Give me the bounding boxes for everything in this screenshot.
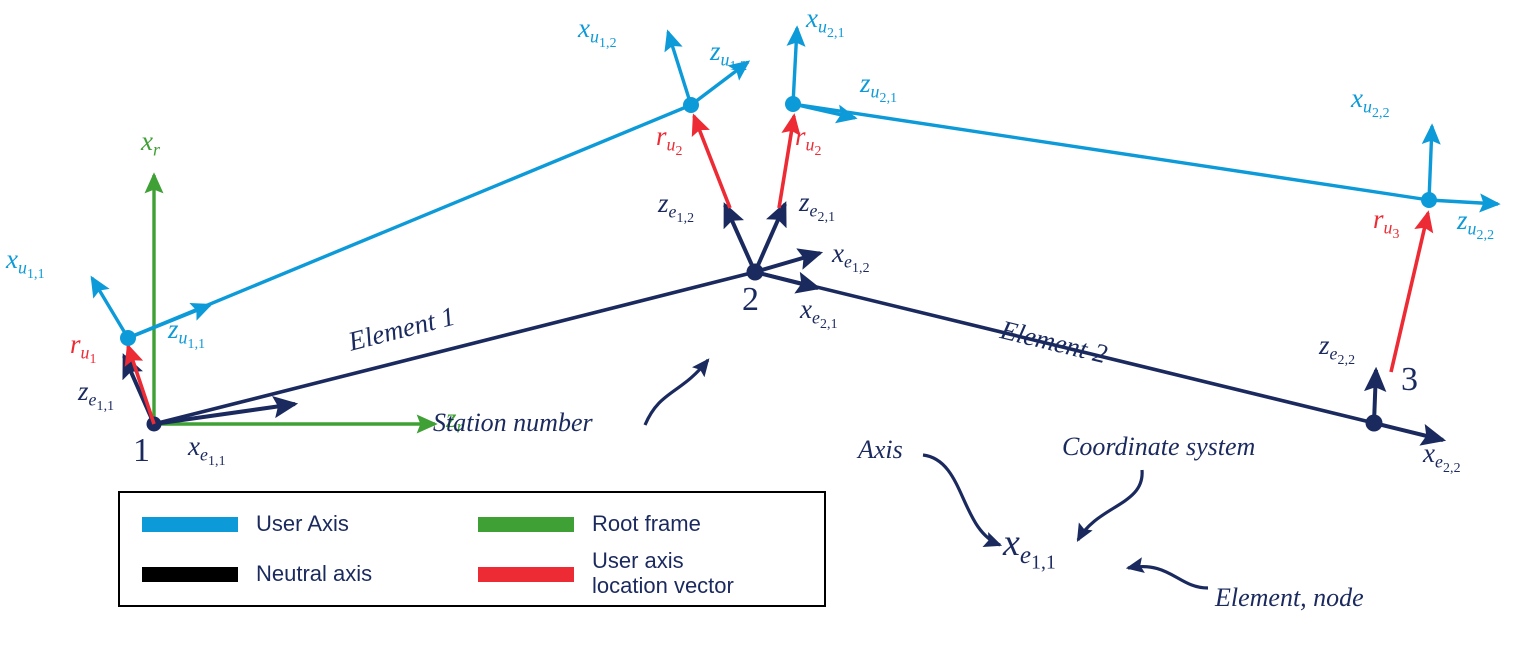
node-3-user-frame [1391,126,1498,372]
axis-callout: Axis [858,437,903,463]
z-e-1-2-label: ze1,2 [658,190,694,225]
x-u-2-1-label: xu2,1 [806,5,845,40]
x-e-2-2-label: xe2,2 [1423,440,1461,475]
z-u-2-2-arrow [1429,200,1498,204]
neutral-axis-beam [154,272,1374,424]
r-u-2-left-label: ru2 [656,123,683,158]
legend-label-neutral-axis: Neutral axis [256,562,372,587]
x-u-1-1-arrow [92,278,128,338]
legend-item-user-axis: User Axis [142,512,478,537]
legend-item-location-vector: User axis location vector [478,549,814,598]
r-u-1-label: ru1 [70,331,97,366]
legend-swatch-neutral-axis [142,567,238,582]
x-e-1-2-arrow [755,253,820,272]
r-u-1-vector-arrow [128,346,154,424]
legend-swatch-user-axis [142,517,238,532]
station-2-number: 2 [742,283,759,317]
legend-item-neutral-axis: Neutral axis [142,562,478,587]
x-u-2-2-arrow [1429,126,1432,200]
annotation-example-symbol: xe1,1 [1003,524,1056,573]
station-3-number: 3 [1401,363,1418,397]
element-node-leader [1128,567,1208,588]
x-e-1-1-label: xe1,1 [188,433,226,468]
z-u-1-2-label: zu1,2 [710,38,747,73]
z-e-1-2-arrow [725,205,755,272]
element-1-user-axis-line [128,105,691,338]
x-u-2-1-arrow [793,28,797,104]
element-node-callout: Element, node [1215,585,1364,611]
x-u-1-1-label: xu1,1 [6,246,45,281]
legend-item-root-frame: Root frame [478,512,814,537]
coordinate-system-callout: Coordinate system [1062,434,1255,460]
node-2-user-dot-left [683,97,699,113]
legend-swatch-root-frame [478,517,574,532]
z-u-1-1-label: zu1,1 [168,316,205,351]
x-u-1-2-arrow [668,32,691,105]
legend-label-root-frame: Root frame [592,512,701,537]
axis-leader [923,455,1000,545]
node-2-user-dot-right [785,96,801,112]
element-1-neutral-axis-line [154,272,755,424]
legend-swatch-location-vector [478,567,574,582]
coordinate-system-leader [1078,470,1142,540]
legend-label-location-vector: User axis location vector [592,549,734,598]
station-1-number: 1 [133,434,150,468]
x-e-1-2-label: xe1,2 [832,240,870,275]
z-e-1-1-label: ze1,1 [78,378,114,413]
r-u-2-right-label: ru2 [795,123,822,158]
legend-box: User Axis Root frame Neutral axis User a… [118,491,826,607]
station-number-leader [645,360,708,425]
root-frame-x-label: xr [141,128,160,160]
z-u-2-1-label: zu2,1 [860,70,897,105]
r-u-2-right-vector-arrow [779,116,794,208]
z-e-2-1-label: ze2,1 [799,189,835,224]
node-2-dot [747,264,764,281]
node-3-dot [1366,415,1383,432]
x-u-2-2-label: xu2,2 [1351,85,1390,120]
station-number-callout: Station number [433,410,593,436]
z-e-2-1-arrow [755,204,785,272]
z-u-2-2-label: zu2,2 [1457,207,1494,242]
diagram-canvas: xr zr xu1,1 zu1,1 ru1 ze1,1 xe1,1 1 xu1,… [0,0,1524,648]
element-2-user-axis-line [793,104,1429,200]
z-e-2-2-label: ze2,2 [1319,332,1355,367]
node-1-user-dot [120,330,136,346]
x-u-1-2-label: xu1,2 [578,15,617,50]
x-e-2-1-label: xe2,1 [800,296,838,331]
r-u-3-label: ru3 [1373,206,1400,241]
r-u-2-left-vector-arrow [694,116,730,208]
node-2-user-frame-right [779,28,855,208]
x-e-2-1-arrow [755,272,818,288]
node-3-user-dot [1421,192,1437,208]
legend-label-user-axis: User Axis [256,512,349,537]
